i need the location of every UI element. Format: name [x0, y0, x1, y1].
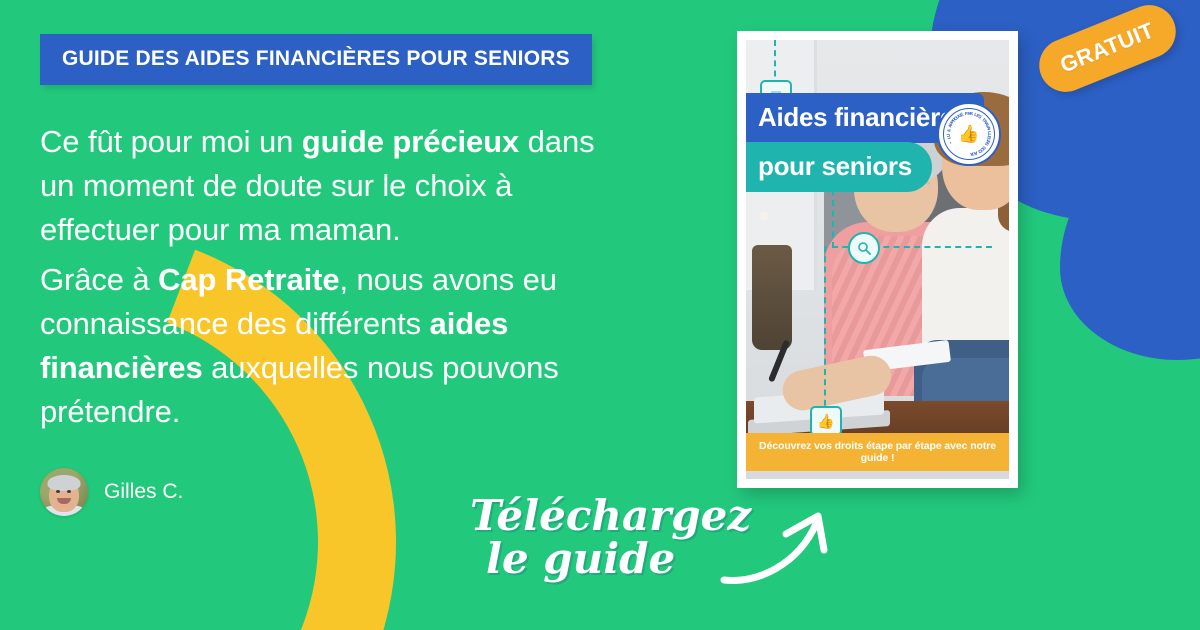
left-column: GUIDE DES AIDES FINANCIÈRES POUR SENIORS…: [40, 34, 660, 440]
promo-banner: GUIDE DES AIDES FINANCIÈRES POUR SENIORS…: [0, 0, 1200, 630]
approval-seal: • LU & APPROUVÉ PAR LES TRAVAILLEURS SOC…: [937, 102, 1001, 166]
book-bottom-banner: Découvrez vos droits étape par étape ave…: [746, 433, 1009, 471]
page-title-badge: GUIDE DES AIDES FINANCIÈRES POUR SENIORS: [40, 34, 592, 85]
curved-up-right-arrow-icon: [720, 500, 850, 590]
testimonial-author: Gilles C.: [40, 468, 183, 516]
cta-script-text: Téléchargez le guide: [470, 495, 740, 581]
author-name: Gilles C.: [104, 480, 183, 504]
quote-paragraph-2: Grâce à Cap Retraite, nous avons eu conn…: [40, 258, 625, 434]
book-inner: ▭ 👍 Aides financières pour seniors • LU …: [746, 40, 1009, 479]
guide-book-cover[interactable]: ▭ 👍 Aides financières pour seniors • LU …: [737, 31, 1018, 488]
cta-line-2: le guide: [486, 538, 740, 581]
quote-paragraph-1: Ce fût pour moi un guide précieux dans u…: [40, 120, 625, 252]
seal-thumbs-up-icon: 👍: [958, 126, 979, 143]
quote-text-1a: Ce fût pour moi un: [40, 124, 302, 159]
magnifier-icon: [848, 232, 880, 264]
quote-strong-2: Cap Retraite: [158, 262, 339, 297]
book-title-line-2: pour seniors: [746, 142, 932, 192]
cta-line-1: Téléchargez: [470, 491, 751, 540]
quote-text-3a: Grâce à: [40, 262, 158, 297]
testimonial-quote: Ce fût pour moi un guide précieux dans u…: [40, 120, 625, 434]
quote-strong-1: guide précieux: [302, 124, 519, 159]
thumbs-up-icon: 👍: [810, 406, 842, 436]
avatar: [40, 468, 88, 516]
